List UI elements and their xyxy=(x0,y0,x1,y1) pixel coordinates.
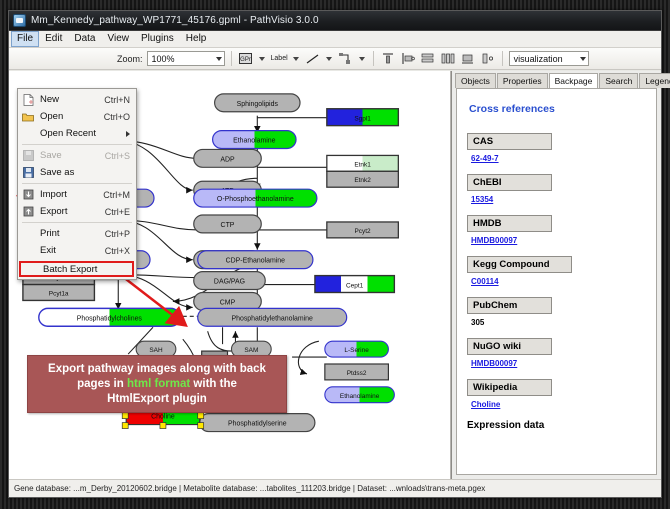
line-dropdown-icon[interactable] xyxy=(326,57,332,61)
tab-objects[interactable]: Objects xyxy=(455,73,496,88)
submenu-arrow-icon xyxy=(126,131,130,137)
align-left-tool-icon[interactable] xyxy=(400,51,416,67)
svg-text:ADP: ADP xyxy=(220,156,235,163)
menu-item-open-recent[interactable]: Open Recent xyxy=(18,125,136,142)
menu-item-export[interactable]: Export Ctrl+E xyxy=(18,203,136,220)
backpage-content: Cross references CAS 62-49-7 ChEBI 15354… xyxy=(456,88,657,475)
node-ctp[interactable]: CTP xyxy=(194,215,262,233)
node-o-phosphoethanolamine[interactable]: O-Phosphoethanolamine xyxy=(194,189,317,207)
node-phosphatidylethanolamine[interactable]: Phosphatidylethanolamine xyxy=(198,308,347,326)
label-dropdown-icon[interactable] xyxy=(293,57,299,61)
menu-item-save-shortcut: Ctrl+S xyxy=(105,151,136,161)
node-phosphatidylserine[interactable]: Phosphatidylserine xyxy=(200,414,315,432)
xref-value-cas[interactable]: 62-49-7 xyxy=(471,154,646,163)
xref-header-chebi: ChEBI xyxy=(467,174,552,191)
save-as-icon xyxy=(20,166,36,180)
toolbar: Zoom: 100% GPr Label xyxy=(9,48,661,70)
xref-header-kegg-compound: Kegg Compound xyxy=(467,256,572,273)
tab-backpage[interactable]: Backpage xyxy=(549,73,599,89)
menu-item-open-recent-label: Open Recent xyxy=(40,128,126,139)
menu-file[interactable]: File xyxy=(11,31,39,47)
menu-separator-2 xyxy=(22,183,132,184)
menu-item-import[interactable]: Import Ctrl+M xyxy=(18,186,136,203)
menu-plugins[interactable]: Plugins xyxy=(135,31,180,47)
menu-edit[interactable]: Edit xyxy=(39,31,68,47)
svg-text:Ethanolamine: Ethanolamine xyxy=(233,138,276,145)
menu-item-print[interactable]: Print Ctrl+P xyxy=(18,225,136,242)
menu-item-new-label: New xyxy=(40,94,104,105)
line-tool-icon[interactable] xyxy=(305,51,321,67)
menu-item-save: Save Ctrl+S xyxy=(18,147,136,164)
node-sphingolipids[interactable]: Sphingolipids xyxy=(215,94,300,112)
pathvisio-app-icon xyxy=(13,14,26,27)
stack-tool-icon[interactable] xyxy=(420,51,436,67)
menu-item-open[interactable]: Open Ctrl+O xyxy=(18,108,136,125)
visualization-select[interactable]: visualization xyxy=(509,51,589,66)
menu-item-import-label: Import xyxy=(40,189,103,200)
node-etnk1[interactable]: Etnk1 xyxy=(327,155,399,171)
screenshot-root: Mm_Kennedy_pathway_WP1771_45176.gpml - P… xyxy=(0,0,670,509)
svg-text:SAM: SAM xyxy=(244,347,258,354)
toolbar-separator-2 xyxy=(373,51,374,66)
align-top-tool-icon[interactable] xyxy=(380,51,396,67)
pathvisio-window: Mm_Kennedy_pathway_WP1771_45176.gpml - P… xyxy=(8,10,662,498)
window-title: Mm_Kennedy_pathway_WP1771_45176.gpml - P… xyxy=(31,15,319,26)
svg-text:CDP-Ethanolamine: CDP-Ethanolamine xyxy=(226,258,286,265)
node-dag-pag[interactable]: DAG/PAG xyxy=(194,272,266,290)
svg-text:Sphingolipids: Sphingolipids xyxy=(237,101,279,108)
svg-text:Phosphatidylserine: Phosphatidylserine xyxy=(228,421,287,428)
node-ethanolamine-top[interactable]: Ethanolamine xyxy=(213,131,296,149)
svg-text:Cept1: Cept1 xyxy=(346,283,364,290)
xref-header-nugo-wiki: NuGO wiki xyxy=(467,338,552,355)
status-text: Gene database: ...m_Derby_20120602.bridg… xyxy=(14,484,485,493)
expression-data-heading: Expression data xyxy=(467,420,646,431)
svg-text:Ptdss2: Ptdss2 xyxy=(347,370,367,377)
window-titlebar: Mm_Kennedy_pathway_WP1771_45176.gpml - P… xyxy=(9,11,661,31)
visualization-value: visualization xyxy=(514,54,563,64)
ungroup-tool-icon[interactable] xyxy=(480,51,496,67)
tab-properties[interactable]: Properties xyxy=(497,73,548,88)
svg-text:L-Serine: L-Serine xyxy=(344,347,369,354)
group-tool-icon[interactable] xyxy=(460,51,476,67)
xref-header-pubchem: PubChem xyxy=(467,297,552,314)
xref-header-wikipedia: Wikipedia xyxy=(467,379,552,396)
callout-line-3: HtmlExport plugin xyxy=(107,392,207,407)
menu-item-batch-export[interactable]: Batch Export xyxy=(19,261,134,277)
menu-separator-1 xyxy=(22,144,132,145)
svg-text:Phosphatidylethanolamine: Phosphatidylethanolamine xyxy=(232,315,314,322)
xref-header-cas: CAS xyxy=(467,133,552,150)
svg-text:Pcyt1a: Pcyt1a xyxy=(49,290,69,297)
node-cept1[interactable]: Cept1 xyxy=(315,276,394,293)
node-etnk2[interactable]: Etnk2 xyxy=(327,171,399,187)
svg-text:Pcyt2: Pcyt2 xyxy=(355,228,372,235)
menu-item-exit[interactable]: Exit Ctrl+X xyxy=(18,242,136,259)
menu-view[interactable]: View xyxy=(101,31,135,47)
menu-item-print-shortcut: Ctrl+P xyxy=(105,229,136,239)
label-tool-label[interactable]: Label xyxy=(271,55,288,62)
new-document-icon xyxy=(20,93,36,107)
node-cdp-ethanolamine[interactable]: CDP-Ethanolamine xyxy=(198,251,313,269)
menu-item-exit-shortcut: Ctrl+X xyxy=(105,246,136,256)
menubar: File Edit Data View Plugins Help xyxy=(9,31,661,48)
export-icon xyxy=(20,205,36,219)
open-folder-icon xyxy=(20,110,36,124)
node-ptdss2[interactable]: Ptdss2 xyxy=(325,364,389,380)
callout-highlight: html format xyxy=(127,378,190,390)
svg-text:O-Phosphoethanolamine: O-Phosphoethanolamine xyxy=(217,196,294,203)
callout-line-2-pre: pages in xyxy=(77,378,127,390)
xref-value-pubchem: 305 xyxy=(471,318,646,327)
backpage-title: Cross references xyxy=(469,103,646,115)
interaction-tool-icon[interactable] xyxy=(338,51,354,67)
menu-item-export-label: Export xyxy=(40,206,105,217)
sidebar-panel: Objects Properties Backpage Search Legen… xyxy=(451,71,661,479)
import-icon xyxy=(20,188,36,202)
exit-spacer xyxy=(20,244,36,258)
node-l-serine[interactable]: L-Serine xyxy=(325,341,389,357)
batch-export-spacer xyxy=(23,262,39,276)
xref-value-kegg-compound[interactable]: C00114 xyxy=(471,277,646,286)
xref-value-nugo-wiki[interactable]: HMDB00097 xyxy=(471,359,646,368)
menu-item-new-shortcut: Ctrl+N xyxy=(104,95,136,105)
node-ethanolamine-low[interactable]: Ethanolamine xyxy=(325,387,395,403)
interaction-dropdown-icon[interactable] xyxy=(359,57,365,61)
menu-item-exit-label: Exit xyxy=(40,245,105,256)
menu-data[interactable]: Data xyxy=(68,31,101,47)
tab-search[interactable]: Search xyxy=(599,73,638,88)
node-phosphatidylcholines[interactable]: Phosphatidylcholines xyxy=(39,308,180,326)
menu-item-export-shortcut: Ctrl+E xyxy=(105,207,136,217)
distribute-tool-icon[interactable] xyxy=(440,51,456,67)
svg-text:Phosphatidylcholines: Phosphatidylcholines xyxy=(77,315,143,322)
menu-item-save-label: Save xyxy=(40,150,105,161)
menu-item-new[interactable]: New Ctrl+N xyxy=(18,91,136,108)
menu-item-save-as-label: Save as xyxy=(40,167,130,178)
svg-text:SAH: SAH xyxy=(149,347,163,354)
zoom-label: Zoom: xyxy=(117,54,143,64)
menu-item-print-label: Print xyxy=(40,228,105,239)
open-recent-spacer xyxy=(20,127,36,141)
menu-item-save-as[interactable]: Save as xyxy=(18,164,136,181)
menu-separator-3 xyxy=(22,222,132,223)
menu-item-import-shortcut: Ctrl+M xyxy=(103,190,136,200)
xref-header-hmdb: HMDB xyxy=(467,215,552,232)
chevron-down-icon xyxy=(216,57,222,61)
gene-product-dropdown-icon[interactable] xyxy=(259,57,265,61)
annotation-callout: Export pathway images along with back pa… xyxy=(27,355,287,413)
svg-text:Choline: Choline xyxy=(151,414,175,421)
toolbar-separator xyxy=(231,51,232,66)
svg-text:CMP: CMP xyxy=(220,299,236,306)
node-pcyt1a[interactable]: Pcyt1a xyxy=(23,285,95,301)
menu-help[interactable]: Help xyxy=(180,31,213,47)
svg-text:Sgpl1: Sgpl1 xyxy=(354,116,371,123)
svg-text:DAG/PAG: DAG/PAG xyxy=(214,279,245,286)
menu-item-open-shortcut: Ctrl+O xyxy=(104,112,136,122)
menu-item-batch-export-label: Batch Export xyxy=(43,264,132,275)
svg-text:Etnk2: Etnk2 xyxy=(354,177,371,184)
callout-line-2: pages in html format with the xyxy=(77,377,237,392)
statusbar: Gene database: ...m_Derby_20120602.bridg… xyxy=(9,479,661,497)
svg-text:Etnk1: Etnk1 xyxy=(354,161,371,168)
zoom-value: 100% xyxy=(152,54,175,64)
svg-text:GPr: GPr xyxy=(240,57,251,63)
zoom-select[interactable]: 100% xyxy=(147,51,225,66)
sidebar-tabstrip: Objects Properties Backpage Search Legen… xyxy=(452,71,661,88)
toolbar-separator-3 xyxy=(502,51,503,66)
svg-text:CTP: CTP xyxy=(221,222,235,229)
node-pcyt2[interactable]: Pcyt2 xyxy=(327,222,399,238)
callout-line-2-post: with the xyxy=(190,378,237,390)
node-adp[interactable]: ADP xyxy=(194,149,262,167)
save-disk-icon xyxy=(20,149,36,163)
node-cmp[interactable]: CMP xyxy=(194,292,262,310)
node-sgpl1[interactable]: Sgpl1 xyxy=(327,109,399,126)
chevron-down-icon xyxy=(580,57,586,61)
xref-value-hmdb[interactable]: HMDB00097 xyxy=(471,236,646,245)
gene-product-tool-icon[interactable]: GPr xyxy=(238,51,254,67)
menu-item-open-label: Open xyxy=(40,111,104,122)
callout-line-1: Export pathway images along with back xyxy=(48,362,266,377)
svg-text:Ethanolamine: Ethanolamine xyxy=(340,393,380,400)
file-menu-dropdown: New Ctrl+N Open Ctrl+O Open Recent xyxy=(17,88,137,280)
xref-value-wikipedia[interactable]: Choline xyxy=(471,400,646,409)
xref-value-chebi[interactable]: 15354 xyxy=(471,195,646,204)
print-spacer xyxy=(20,227,36,241)
tab-legend[interactable]: Legend xyxy=(639,73,670,88)
